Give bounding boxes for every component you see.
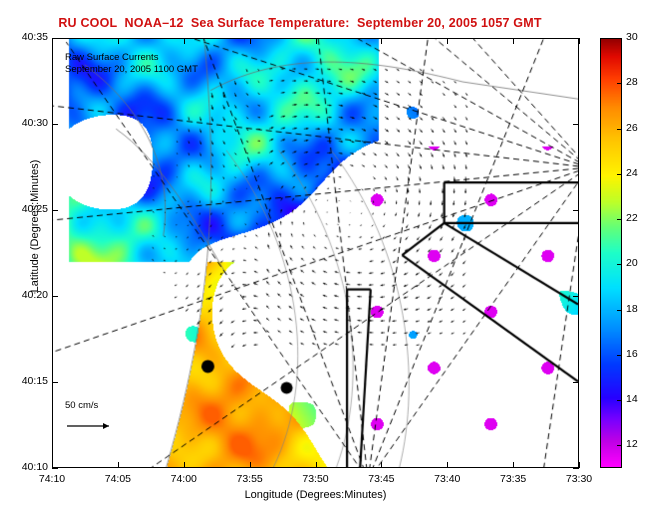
overlay-annotation: Raw Surface CurrentsSeptember 20, 2005 1… xyxy=(65,52,198,76)
x-axis-tick-mark xyxy=(184,462,185,468)
x-axis-tick-label: 74:05 xyxy=(93,473,143,485)
colorbar-tick-mark xyxy=(617,310,622,311)
colorbar-tick-mark xyxy=(617,264,622,265)
x-axis-tick-mark xyxy=(316,462,317,468)
x-axis-tick-mark-top xyxy=(579,38,580,44)
y-axis-tick-label: 40:10 xyxy=(0,461,48,473)
colorbar-tick-label: 20 xyxy=(626,257,651,269)
overlay-annotation-line1: Raw Surface Currents xyxy=(65,52,158,63)
y-axis-tick-mark-right xyxy=(573,382,579,383)
x-axis-tick-label: 74:00 xyxy=(159,473,209,485)
y-axis-tick-label: 40:30 xyxy=(0,117,48,129)
x-axis-tick-mark xyxy=(579,462,580,468)
colorbar-tick-mark xyxy=(617,355,622,356)
colorbar-tick-mark xyxy=(617,83,622,84)
colorbar-tick-mark xyxy=(617,38,622,39)
x-axis-tick-mark-top xyxy=(447,38,448,44)
page-title: RU COOL NOAA–12 Sea Surface Temperature:… xyxy=(0,16,600,30)
colorbar-tick-mark xyxy=(617,219,622,220)
vector-scale-label: 50 cm/s xyxy=(65,400,98,411)
colorbar-tick-label: 30 xyxy=(626,31,651,43)
y-axis-tick-label: 40:25 xyxy=(0,203,48,215)
overlay-annotation-line2: September 20, 2005 1100 GMT xyxy=(65,64,198,75)
x-axis-tick-label: 73:40 xyxy=(422,473,472,485)
x-axis-tick-mark-top xyxy=(184,38,185,44)
x-axis-tick-mark xyxy=(447,462,448,468)
colorbar xyxy=(600,38,622,468)
x-axis-tick-mark xyxy=(118,462,119,468)
x-axis-tick-mark-top xyxy=(52,38,53,44)
y-axis-tick-mark xyxy=(52,210,58,211)
y-axis-tick-mark-right xyxy=(573,210,579,211)
y-axis-tick-mark xyxy=(52,382,58,383)
x-axis-tick-mark xyxy=(513,462,514,468)
x-axis-tick-label: 73:35 xyxy=(488,473,538,485)
y-axis-label: Latitude (Degrees:Minutes) xyxy=(29,116,41,336)
y-axis-tick-mark-right xyxy=(573,468,579,469)
y-axis-tick-label: 40:20 xyxy=(0,289,48,301)
x-axis-tick-mark xyxy=(381,462,382,468)
colorbar-tick-label: 18 xyxy=(626,303,651,315)
sst-figure: RU COOL NOAA–12 Sea Surface Temperature:… xyxy=(0,0,651,518)
colorbar-tick-mark xyxy=(617,174,622,175)
y-axis-tick-mark-right xyxy=(573,296,579,297)
x-axis-tick-mark-top xyxy=(513,38,514,44)
x-axis-tick-mark-top xyxy=(250,38,251,44)
x-axis-tick-label: 73:50 xyxy=(291,473,341,485)
colorbar-tick-mark xyxy=(617,129,622,130)
x-axis-tick-mark-top xyxy=(118,38,119,44)
x-axis-label: Longitude (Degrees:Minutes) xyxy=(52,489,579,501)
y-axis-tick-mark xyxy=(52,296,58,297)
x-axis-tick-label: 73:55 xyxy=(225,473,275,485)
current-vectors-overlay xyxy=(53,39,578,467)
x-axis-tick-mark-top xyxy=(381,38,382,44)
x-axis-tick-label: 73:30 xyxy=(554,473,604,485)
x-axis-tick-mark-top xyxy=(316,38,317,44)
x-axis-tick-mark xyxy=(52,462,53,468)
colorbar-tick-label: 14 xyxy=(626,393,651,405)
y-axis-tick-label: 40:35 xyxy=(0,31,48,43)
colorbar-tick-label: 26 xyxy=(626,122,651,134)
colorbar-tick-mark xyxy=(617,445,622,446)
vector-scale-arrow-icon xyxy=(65,419,125,433)
y-axis-tick-label: 40:15 xyxy=(0,375,48,387)
colorbar-gradient xyxy=(601,39,621,467)
colorbar-tick-label: 22 xyxy=(626,212,651,224)
x-axis-tick-label: 74:10 xyxy=(27,473,77,485)
map-plot-area[interactable]: Raw Surface CurrentsSeptember 20, 2005 1… xyxy=(52,38,579,468)
colorbar-tick-mark xyxy=(617,400,622,401)
colorbar-tick-label: 12 xyxy=(626,438,651,450)
y-axis-tick-mark xyxy=(52,124,58,125)
y-axis-tick-mark xyxy=(52,468,58,469)
x-axis-tick-mark xyxy=(250,462,251,468)
x-axis-tick-label: 73:45 xyxy=(356,473,406,485)
colorbar-tick-label: 28 xyxy=(626,76,651,88)
colorbar-tick-label: 24 xyxy=(626,167,651,179)
y-axis-tick-mark-right xyxy=(573,124,579,125)
colorbar-tick-label: 16 xyxy=(626,348,651,360)
